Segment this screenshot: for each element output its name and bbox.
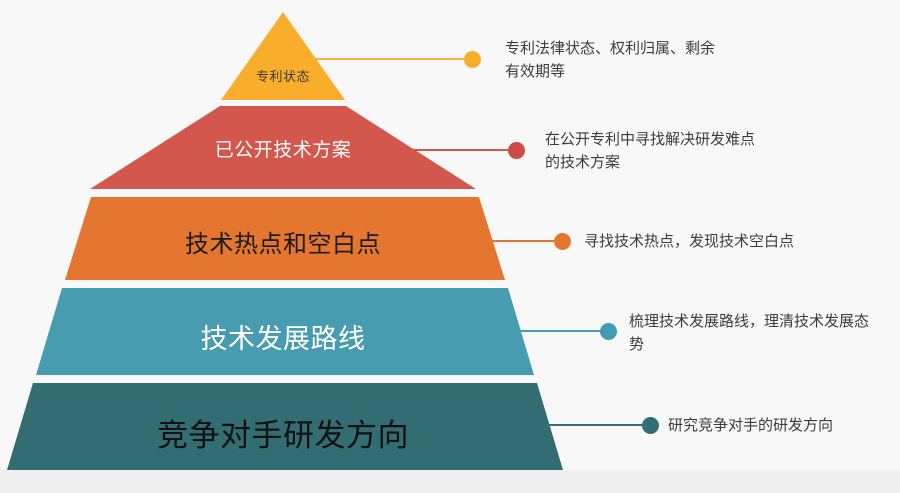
pyramid-tier-1[interactable] [221, 12, 345, 100]
note-text-2: 在公开专利中寻找解决研发难点 的技术方案 [545, 128, 895, 175]
diagram-canvas: 专利状态 已公开技术方案 技术热点和空白点 技术发展路线 竞争对手研发方向 专利… [0, 0, 900, 493]
connector-line-1 [305, 58, 473, 60]
pyramid-tier-5[interactable] [7, 383, 563, 470]
note-text-3: 寻找技术热点，发现技术空白点 [584, 230, 894, 253]
connector-dot-5[interactable] [642, 417, 659, 434]
connector-line-2 [363, 149, 518, 151]
connector-dot-3[interactable] [554, 233, 571, 250]
connector-dot-2[interactable] [508, 142, 525, 159]
connector-dot-1[interactable] [464, 51, 481, 68]
note-text-5: 研究竞争对手的研发方向 [668, 414, 900, 437]
note-text-4: 梳理技术发展路线，理清技术发展态 势 [629, 310, 900, 357]
note-text-1: 专利法律状态、权利归属、剩余 有效期等 [505, 37, 885, 84]
connector-dot-4[interactable] [600, 323, 617, 340]
pyramid-tier-4[interactable] [36, 288, 534, 375]
pyramid-tier-3[interactable] [65, 197, 505, 280]
connector-line-5 [530, 424, 654, 426]
connector-line-4 [474, 330, 611, 332]
connector-line-3 [420, 240, 565, 242]
pyramid-tier-2[interactable] [90, 106, 476, 189]
